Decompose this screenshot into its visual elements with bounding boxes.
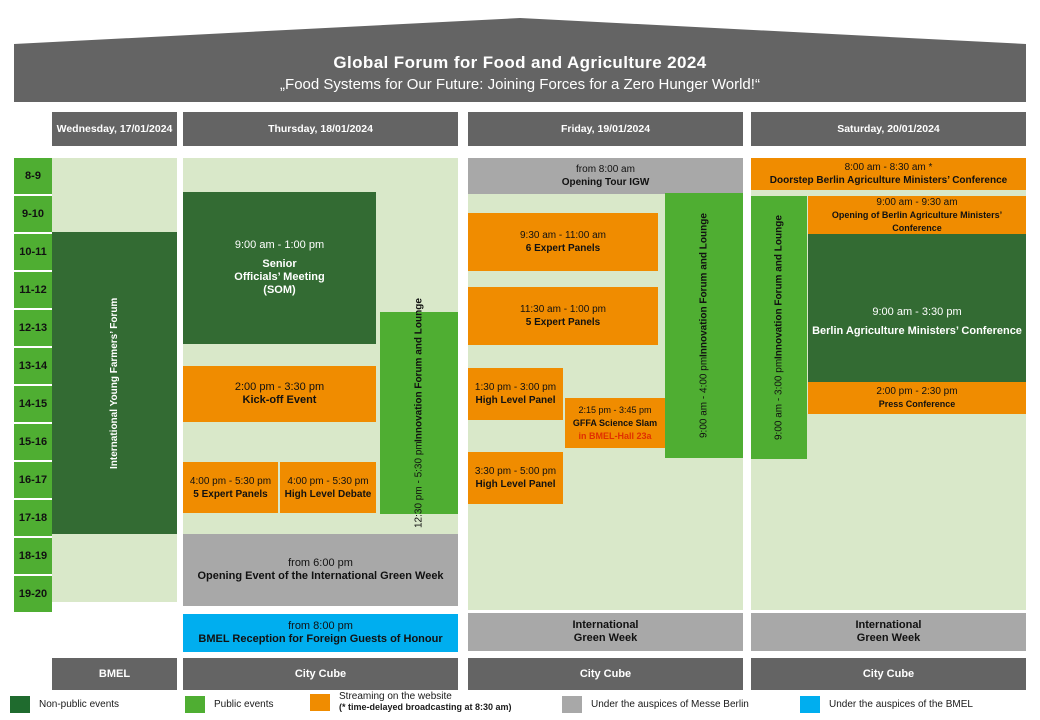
- event-opening-international-green-week[interactable]: from 6:00 pm Opening Event of the Intern…: [183, 534, 458, 606]
- venue-label: City Cube: [863, 668, 914, 680]
- time-slot-12-13: 12-13: [14, 310, 52, 346]
- event-time: from 6:00 pm: [288, 557, 353, 570]
- legend-swatch-icon: [562, 696, 582, 713]
- event-time: 2:00 pm - 2:30 pm: [876, 385, 957, 398]
- event-name-line1: International: [855, 619, 921, 632]
- time-slot-label: 13-14: [19, 360, 47, 372]
- event-time: 12:30 pm - 5:30 pm: [413, 442, 426, 529]
- event-senior-officials-meeting[interactable]: 9:00 am - 1:00 pm Senior Officials’ Meet…: [183, 192, 376, 344]
- event-high-level-debate[interactable]: 4:00 pm - 5:30 pm High Level Debate: [280, 462, 376, 513]
- legend-label: Under the auspices of the BMEL: [829, 699, 973, 710]
- event-name: International Young Farmers’ Forum: [108, 297, 121, 468]
- event-name: Innovation Forum and Lounge: [773, 215, 786, 359]
- event-name: High Level Debate: [285, 488, 372, 501]
- time-slot-9-10: 9-10: [14, 196, 52, 232]
- time-slot-16-17: 16-17: [14, 462, 52, 498]
- page-title: Global Forum for Food and Agriculture 20…: [333, 53, 706, 73]
- legend-item-messe-berlin: Under the auspices of Messe Berlin: [562, 696, 749, 713]
- event-time: 11:30 am - 1:00 pm: [520, 303, 606, 316]
- event-name: High Level Panel: [475, 478, 555, 491]
- event-international-young-farmers-forum[interactable]: International Young Farmers’ Forum: [52, 232, 177, 534]
- legend-item-bmel: Under the auspices of the BMEL: [800, 696, 973, 713]
- event-high-level-panel-2[interactable]: 3:30 pm - 5:00 pm High Level Panel: [468, 452, 563, 504]
- legend-swatch-icon: [310, 694, 330, 711]
- event-opening-tour-igw[interactable]: from 8:00 am Opening Tour IGW: [468, 158, 743, 194]
- event-time: 9:00 am - 4:00 pm: [698, 357, 711, 438]
- event-time: 8:00 am - 8:30 am *: [845, 161, 933, 174]
- time-slot-8-9: 8-9: [14, 158, 52, 194]
- legend-label: Streaming on the website (* time-delayed…: [339, 691, 512, 713]
- time-slot-19-20: 19-20: [14, 576, 52, 612]
- event-name: GFFA Science Slam: [573, 417, 657, 430]
- event-name-line1: International: [572, 619, 638, 632]
- event-time: from 8:00 am: [576, 163, 635, 176]
- time-slot-label: 15-16: [19, 436, 47, 448]
- day-header-friday: Friday, 19/01/2024: [468, 112, 743, 146]
- event-time: 4:00 pm - 5:30 pm: [190, 475, 271, 488]
- time-slot-14-15: 14-15: [14, 386, 52, 422]
- event-bmel-reception[interactable]: from 8:00 pm BMEL Reception for Foreign …: [183, 614, 458, 652]
- event-name: Innovation Forum and Lounge: [698, 213, 711, 357]
- event-high-level-panel-1[interactable]: 1:30 pm - 3:00 pm High Level Panel: [468, 368, 563, 420]
- time-slot-label: 9-10: [22, 208, 44, 220]
- event-name: 5 Expert Panels: [193, 488, 267, 501]
- event-innovation-forum-lounge-friday[interactable]: 9:00 am - 4:00 pm Innovation Forum and L…: [665, 193, 743, 458]
- day-header-label: Wednesday, 17/01/2024: [57, 123, 173, 135]
- event-name-line2: Green Week: [857, 632, 920, 645]
- event-name: Kick-off Event: [243, 394, 317, 407]
- legend-label: Under the auspices of Messe Berlin: [591, 699, 749, 710]
- time-slot-label: 19-20: [19, 588, 47, 600]
- time-slot-11-12: 11-12: [14, 272, 52, 308]
- time-slot-18-19: 18-19: [14, 538, 52, 574]
- event-kick-off-event[interactable]: 2:00 pm - 3:30 pm Kick-off Event: [183, 366, 376, 422]
- legend-label: Public events: [214, 699, 273, 710]
- legend-swatch-icon: [10, 696, 30, 713]
- event-name: Opening Tour IGW: [562, 176, 650, 189]
- event-press-conference[interactable]: 2:00 pm - 2:30 pm Press Conference: [808, 382, 1026, 414]
- time-slot-label: 10-11: [19, 246, 47, 258]
- event-name: Press Conference: [879, 398, 956, 411]
- event-time: 9:30 am - 11:00 am: [520, 229, 606, 242]
- legend-item-streaming: Streaming on the website (* time-delayed…: [310, 691, 512, 713]
- event-doorstep-berlin-agriculture-ministers-conference[interactable]: 8:00 am - 8:30 am * Doorstep Berlin Agri…: [751, 158, 1026, 190]
- legend-swatch-icon: [185, 696, 205, 713]
- event-international-green-week-saturday[interactable]: International Green Week: [751, 613, 1026, 651]
- legend: Non-public events Public events Streamin…: [0, 694, 1040, 720]
- time-slot-label: 11-12: [19, 284, 47, 296]
- venue-thursday: City Cube: [183, 658, 458, 690]
- event-innovation-forum-lounge-thursday[interactable]: 12:30 pm - 5:30 pm Innovation Forum and …: [380, 312, 458, 514]
- event-innovation-forum-lounge-saturday[interactable]: 9:00 am - 3:00 pm Innovation Forum and L…: [751, 196, 807, 459]
- event-name: Doorstep Berlin Agriculture Ministers’ C…: [770, 174, 1007, 187]
- day-header-label: Saturday, 20/01/2024: [837, 123, 940, 135]
- event-time: 4:00 pm - 5:30 pm: [287, 475, 368, 488]
- event-name: Berlin Agriculture Ministers’ Conference: [812, 325, 1022, 338]
- event-time: 9:00 am - 3:30 pm: [872, 306, 961, 319]
- time-slot-13-14: 13-14: [14, 348, 52, 384]
- event-time: 9:00 am - 9:30 am: [876, 196, 957, 209]
- legend-label-line2: (* time-delayed broadcasting at 8:30 am): [339, 702, 512, 713]
- venue-label: City Cube: [580, 668, 631, 680]
- event-time: 2:00 pm - 3:30 pm: [235, 381, 324, 394]
- event-time: 9:00 am - 1:00 pm: [235, 239, 324, 252]
- legend-label-line1: Streaming on the website: [339, 691, 452, 702]
- time-slot-17-18: 17-18: [14, 500, 52, 536]
- time-slot-label: 12-13: [19, 322, 47, 334]
- schedule-poster: Global Forum for Food and Agriculture 20…: [0, 0, 1040, 720]
- time-slot-label: 8-9: [25, 170, 41, 182]
- day-header-label: Friday, 19/01/2024: [561, 123, 650, 135]
- day-header-saturday: Saturday, 20/01/2024: [751, 112, 1026, 146]
- day-header-label: Thursday, 18/01/2024: [268, 123, 373, 135]
- event-time: 3:30 pm - 5:00 pm: [475, 465, 556, 478]
- legend-item-public: Public events: [185, 696, 273, 713]
- time-slot-10-11: 10-11: [14, 234, 52, 270]
- event-time: 1:30 pm - 3:00 pm: [475, 381, 556, 394]
- event-gffa-science-slam[interactable]: 2:15 pm - 3:45 pm GFFA Science Slam in B…: [565, 398, 665, 448]
- event-time: 9:00 am - 3:00 pm: [773, 359, 786, 440]
- event-time: 2:15 pm - 3:45 pm: [578, 404, 651, 417]
- event-5-expert-panels-thursday[interactable]: 4:00 pm - 5:30 pm 5 Expert Panels: [183, 462, 278, 513]
- event-name-line3: (SOM): [263, 284, 295, 297]
- venue-wednesday: BMEL: [52, 658, 177, 690]
- event-name-line2: Green Week: [574, 632, 637, 645]
- event-name: Senior: [262, 258, 296, 271]
- event-name: Opening of Berlin Agriculture Ministers’…: [811, 209, 1023, 235]
- event-6-expert-panels[interactable]: 9:30 am - 11:00 am 6 Expert Panels: [468, 213, 658, 271]
- time-slot-label: 18-19: [19, 550, 47, 562]
- day-header-thursday: Thursday, 18/01/2024: [183, 112, 458, 146]
- event-time: from 8:00 pm: [288, 620, 353, 633]
- time-slot-15-16: 15-16: [14, 424, 52, 460]
- event-name: 5 Expert Panels: [526, 316, 600, 329]
- day-header-wednesday: Wednesday, 17/01/2024: [52, 112, 177, 146]
- venue-label: City Cube: [295, 668, 346, 680]
- time-slot-label: 17-18: [19, 512, 47, 524]
- time-slot-label: 14-15: [19, 398, 47, 410]
- legend-label: Non-public events: [39, 699, 119, 710]
- event-name-line2: Officials’ Meeting: [234, 271, 324, 284]
- venue-friday: City Cube: [468, 658, 743, 690]
- venue-label: BMEL: [99, 668, 130, 680]
- event-name: Innovation Forum and Lounge: [413, 298, 426, 442]
- event-name: Opening Event of the International Green…: [197, 570, 443, 583]
- page-subtitle: „Food Systems for Our Future: Joining Fo…: [280, 75, 760, 94]
- time-slot-label: 16-17: [19, 474, 47, 486]
- event-opening-berlin-agriculture-ministers-conference[interactable]: 9:00 am - 9:30 am Opening of Berlin Agri…: [808, 196, 1026, 234]
- event-location-note: in BMEL-Hall 23a: [578, 430, 651, 443]
- title-banner: Global Forum for Food and Agriculture 20…: [14, 44, 1026, 102]
- event-name: BMEL Reception for Foreign Guests of Hon…: [198, 633, 442, 646]
- venue-saturday: City Cube: [751, 658, 1026, 690]
- legend-item-non-public: Non-public events: [10, 696, 119, 713]
- event-5-expert-panels-friday[interactable]: 11:30 am - 1:00 pm 5 Expert Panels: [468, 287, 658, 345]
- event-international-green-week-friday[interactable]: International Green Week: [468, 613, 743, 651]
- event-name: 6 Expert Panels: [526, 242, 600, 255]
- event-name: High Level Panel: [475, 394, 555, 407]
- legend-swatch-icon: [800, 696, 820, 713]
